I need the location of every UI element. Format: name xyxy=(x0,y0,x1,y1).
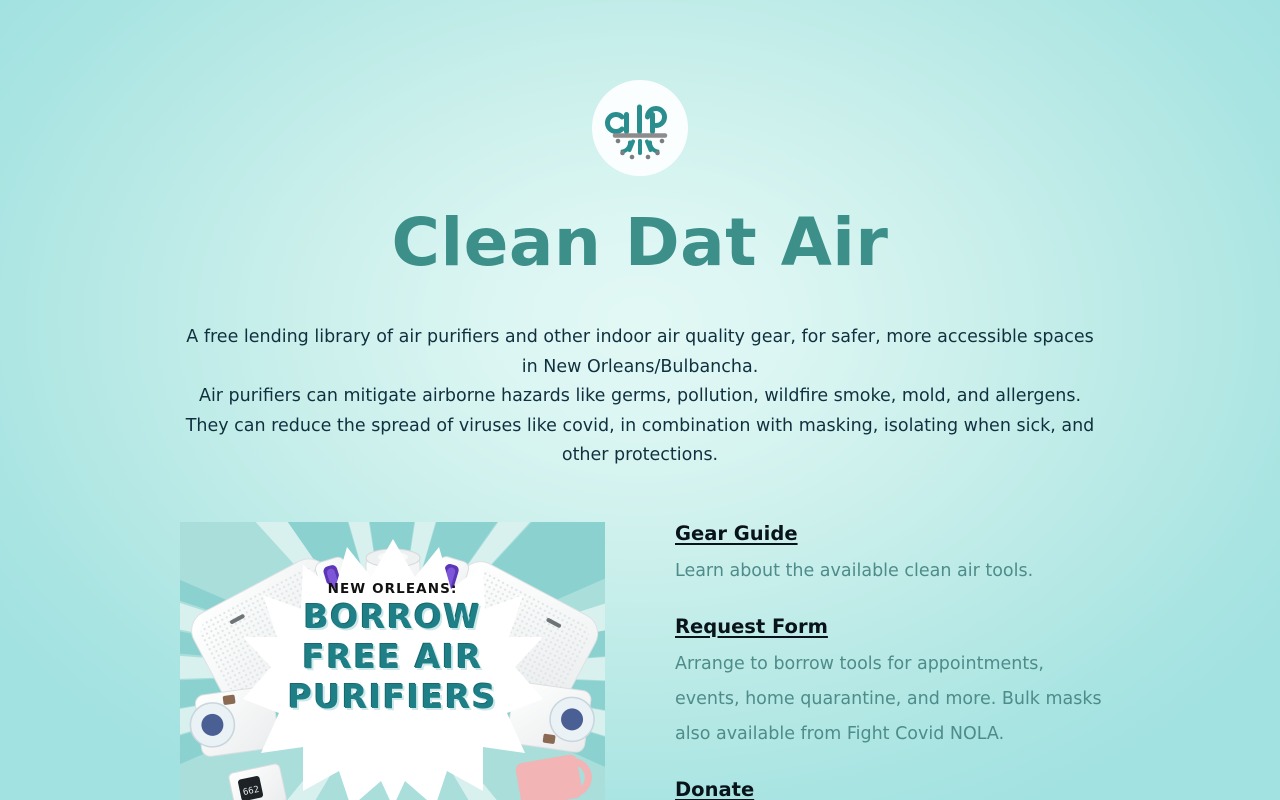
site-logo[interactable] xyxy=(592,80,688,176)
link-request-form-description: Arrange to borrow tools for appointments… xyxy=(675,647,1107,752)
poster-kicker: NEW ORLEANS: xyxy=(243,581,543,597)
intro-paragraph-2: Air purifiers can mitigate airborne haza… xyxy=(180,382,1100,471)
poster-badge: NEW ORLEANS: BORROW FREE AIR PURIFIERS xyxy=(243,537,543,800)
link-block-gear-guide: Gear Guide Learn about the available cle… xyxy=(675,522,1125,589)
intro-paragraph-1: A free lending library of air purifiers … xyxy=(180,323,1100,382)
links-column: Gear Guide Learn about the available cle… xyxy=(675,522,1125,800)
link-gear-guide[interactable]: Gear Guide xyxy=(675,522,798,545)
poster-line-2: FREE AIR xyxy=(243,637,543,677)
link-gear-guide-description: Learn about the available clean air tool… xyxy=(675,554,1107,589)
poster-line-3: PURIFIERS xyxy=(243,677,543,717)
poster-image[interactable]: 662 NEW ORLEANS: BORROW FREE AIR PURIFIE… xyxy=(180,522,605,800)
link-block-donate: Donate xyxy=(675,778,1125,800)
lower-section: 662 NEW ORLEANS: BORROW FREE AIR PURIFIE… xyxy=(0,522,1280,800)
logo-container xyxy=(0,0,1280,176)
link-donate[interactable]: Donate xyxy=(675,778,754,800)
page-root: Clean Dat Air A free lending library of … xyxy=(0,0,1280,800)
alp-logo-icon xyxy=(601,89,679,167)
intro-text: A free lending library of air purifiers … xyxy=(180,323,1100,471)
poster-line-1: BORROW xyxy=(243,597,543,637)
page-title: Clean Dat Air xyxy=(0,208,1280,277)
link-request-form[interactable]: Request Form xyxy=(675,615,828,638)
poster-column: 662 NEW ORLEANS: BORROW FREE AIR PURIFIE… xyxy=(180,522,605,800)
link-block-request-form: Request Form Arrange to borrow tools for… xyxy=(675,615,1125,752)
poster-badge-text: NEW ORLEANS: BORROW FREE AIR PURIFIERS xyxy=(243,581,543,717)
